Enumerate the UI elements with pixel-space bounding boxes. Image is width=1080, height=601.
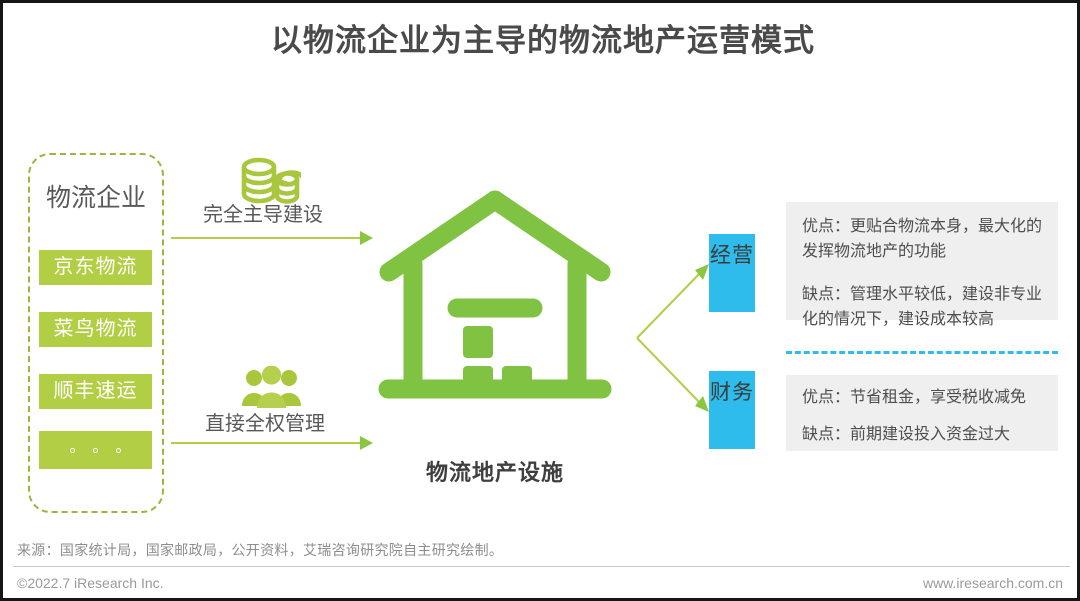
source-note: 来源：国家统计局，国家邮政局，公开资料，艾瑞咨询研究院自主研究绘制。	[17, 540, 503, 560]
category-label-finance: 财务	[710, 381, 754, 404]
enterprise-chip-cainiao[interactable]: 菜鸟物流	[39, 312, 152, 347]
dot-icon	[93, 448, 98, 453]
note-box-operations: 优点：更贴合物流本身，最大化的发挥物流地产的功能 缺点：管理水平较低，建设非专业…	[786, 202, 1058, 320]
note-box-finance: 优点：节省租金，享受税收减免 缺点：前期建设投入资金过大	[786, 375, 1058, 451]
branch-arrows	[623, 228, 723, 453]
flow-arrow-line-build	[171, 237, 361, 239]
ellipsis-dots	[39, 431, 152, 469]
enterprise-chip-more[interactable]	[39, 431, 152, 469]
infographic-page: 以物流企业为主导的物流地产运营模式 物流企业 京东物流 菜鸟物流 顺丰速运	[0, 0, 1080, 601]
section-divider	[786, 351, 1058, 354]
facility-caption: 物流地产设施	[371, 455, 619, 487]
dot-icon	[70, 448, 75, 453]
people-icon	[241, 366, 303, 415]
flow-label-manage: 直接全权管理	[205, 411, 325, 437]
website-link[interactable]: www.iresearch.com.cn	[923, 575, 1063, 591]
copyright-text: ©2022.7 iResearch Inc.	[17, 575, 164, 591]
enterprise-panel-heading: 物流企业	[28, 181, 164, 215]
enterprise-chip-sf[interactable]: 顺丰速运	[39, 374, 152, 409]
cons-text-operations: 缺点：管理水平较低，建设非专业化的情况下，建设成本较高	[802, 282, 1042, 332]
cons-text-finance: 缺点：前期建设投入资金过大	[802, 422, 1042, 447]
dot-icon	[116, 448, 121, 453]
enterprise-chip-jingdong[interactable]: 京东物流	[39, 250, 152, 285]
category-box-finance[interactable]: 财务	[709, 371, 755, 449]
category-box-operations[interactable]: 经营	[709, 234, 755, 312]
category-label-operations: 经营	[710, 244, 754, 267]
footer-divider	[13, 566, 1070, 567]
pros-text-operations: 优点：更贴合物流本身，最大化的发挥物流地产的功能	[802, 214, 1042, 264]
pros-text-finance: 优点：节省租金，享受税收减免	[802, 385, 1042, 410]
warehouse-house-icon	[371, 186, 619, 441]
flow-label-build: 完全主导建设	[203, 202, 323, 228]
flow-arrow-line-manage	[171, 442, 361, 444]
page-title: 以物流企业为主导的物流地产运营模式	[3, 19, 1080, 63]
